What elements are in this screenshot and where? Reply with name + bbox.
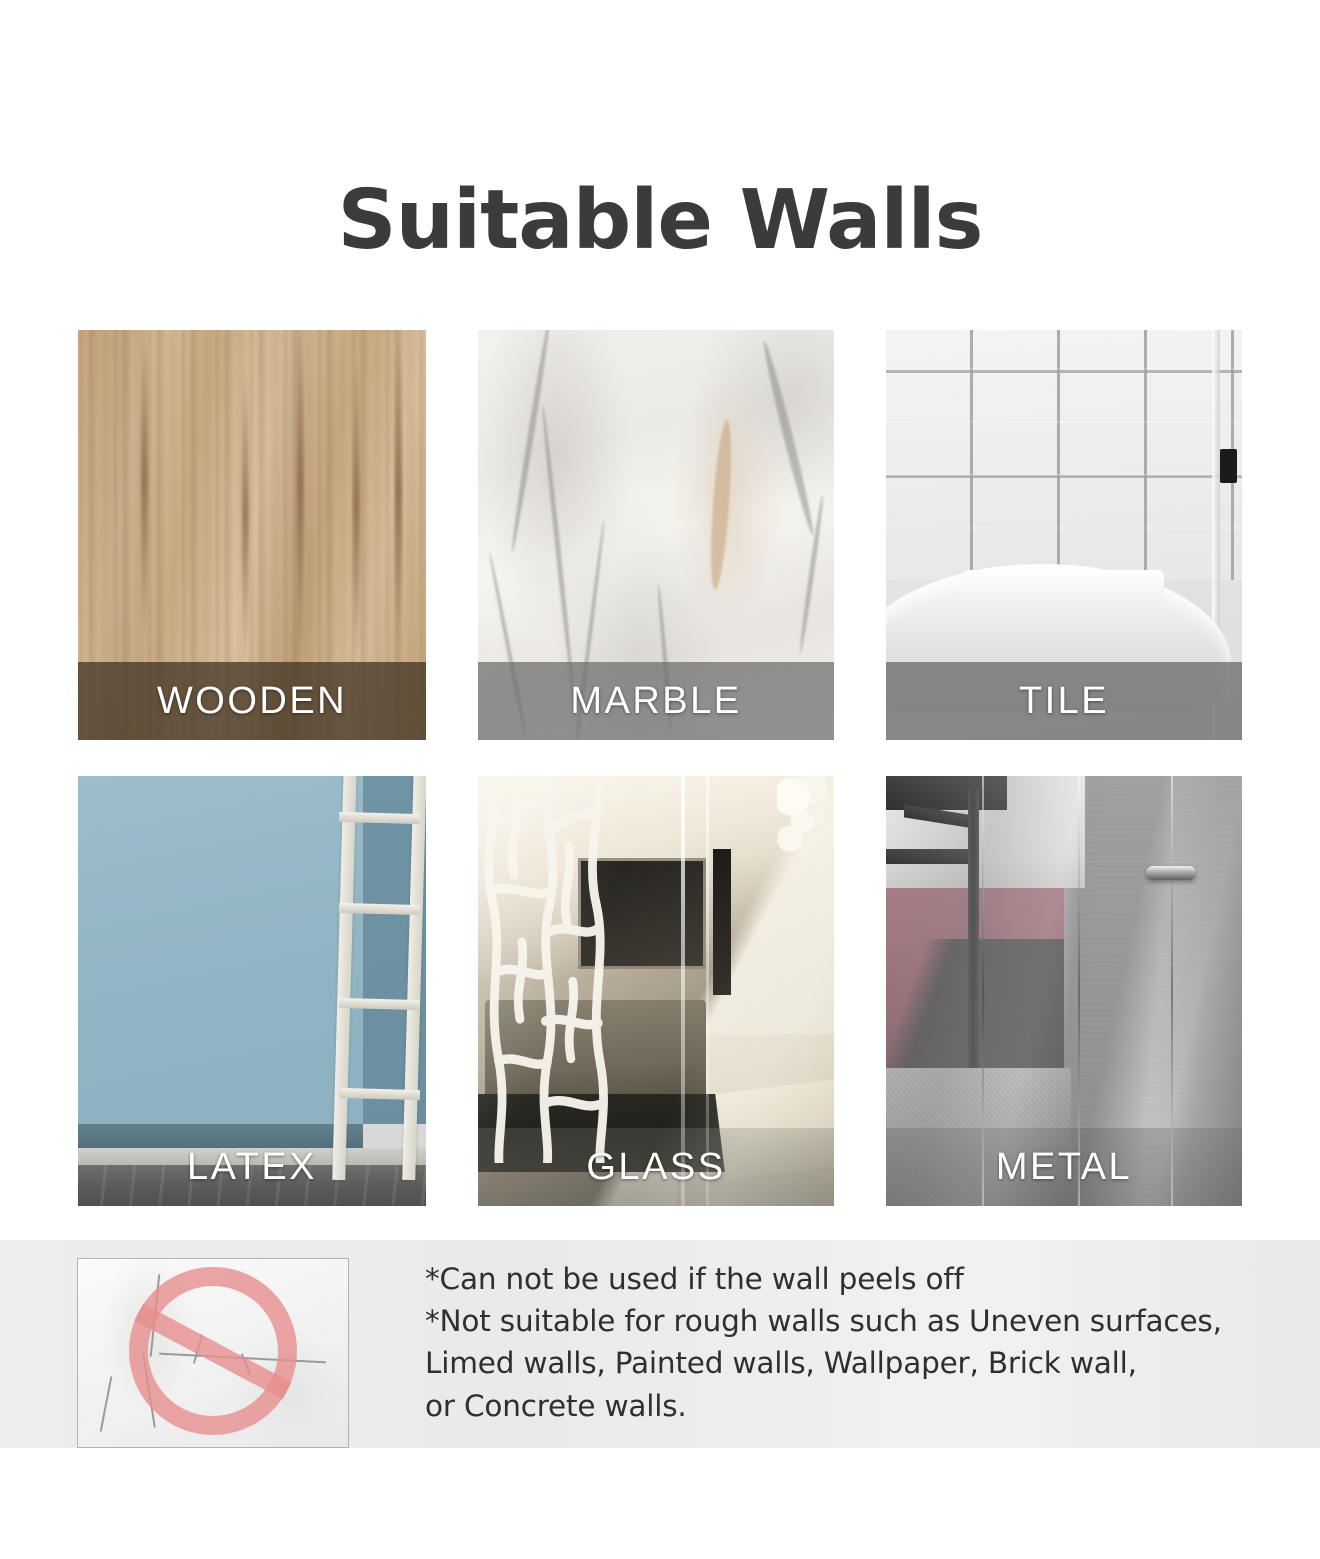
page-title: Suitable Walls bbox=[0, 178, 1320, 264]
restriction-line-1: *Can not be used if the wall peels off bbox=[425, 1258, 1245, 1300]
wall-type-card-metal[interactable]: METAL bbox=[886, 776, 1242, 1206]
wall-type-card-glass[interactable]: GLASS bbox=[478, 776, 834, 1206]
wall-type-card-tile[interactable]: TILE bbox=[886, 330, 1242, 740]
wall-type-label-metal: METAL bbox=[886, 1128, 1242, 1206]
wall-type-label-marble: MARBLE bbox=[478, 662, 834, 740]
wall-switch-icon bbox=[1220, 449, 1237, 483]
wall-type-label-glass: GLASS bbox=[478, 1128, 834, 1206]
restriction-line-2: *Not suitable for rough walls such as Un… bbox=[425, 1300, 1245, 1342]
restrictions-section: *Can not be used if the wall peels off *… bbox=[0, 1240, 1320, 1448]
restrictions-text: *Can not be used if the wall peels off *… bbox=[425, 1258, 1245, 1427]
prohibition-icon bbox=[129, 1267, 297, 1435]
door-handle-icon bbox=[1146, 866, 1196, 880]
infographic-page: Suitable Walls WOODEN bbox=[0, 0, 1320, 1559]
wall-type-card-latex[interactable]: LATEX bbox=[78, 776, 426, 1206]
restriction-line-3: Limed walls, Painted walls, Wallpaper, B… bbox=[425, 1342, 1245, 1384]
wall-type-label-latex: LATEX bbox=[78, 1128, 426, 1206]
wall-type-card-marble[interactable]: MARBLE bbox=[478, 330, 834, 740]
wall-type-card-wooden[interactable]: WOODEN bbox=[78, 330, 426, 740]
wall-type-label-tile: TILE bbox=[886, 662, 1242, 740]
wall-type-label-wooden: WOODEN bbox=[78, 662, 426, 740]
restriction-line-4: or Concrete walls. bbox=[425, 1385, 1245, 1427]
ladder-object bbox=[333, 776, 423, 1180]
cracked-wall-thumbnail bbox=[77, 1258, 349, 1448]
wall-type-grid: WOODEN MARBLE bbox=[78, 330, 1245, 1206]
